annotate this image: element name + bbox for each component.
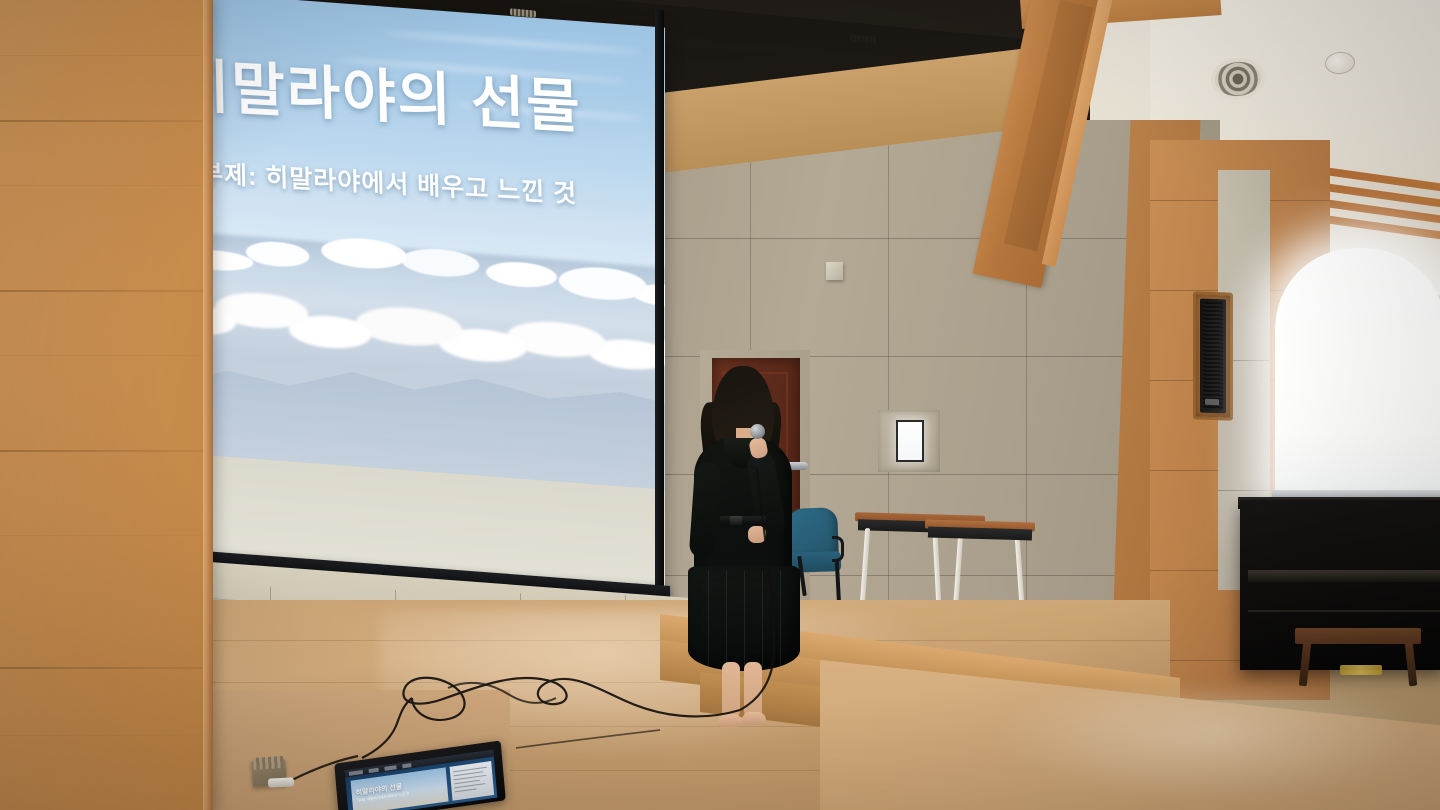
belt-buckle	[730, 516, 742, 525]
floor-outlet-plug	[268, 777, 294, 787]
auditorium-photo: 히말라야의 선물 부제: 히말라야에서 배우고 느낀 것	[0, 0, 1440, 810]
lower-hand	[748, 526, 766, 543]
laptop-notes-panel[interactable]	[450, 761, 495, 801]
belt	[720, 516, 766, 525]
left-wood-pillar	[0, 0, 210, 810]
left-pillar-edge	[203, 0, 213, 810]
lower-floor-reflection	[1000, 690, 1420, 800]
microphone-icon[interactable]	[750, 424, 765, 439]
laptop[interactable]: 히말라야의 선물 부제: 히말라야에서 배우고 느낀 것	[330, 748, 510, 810]
presenter	[686, 366, 806, 716]
